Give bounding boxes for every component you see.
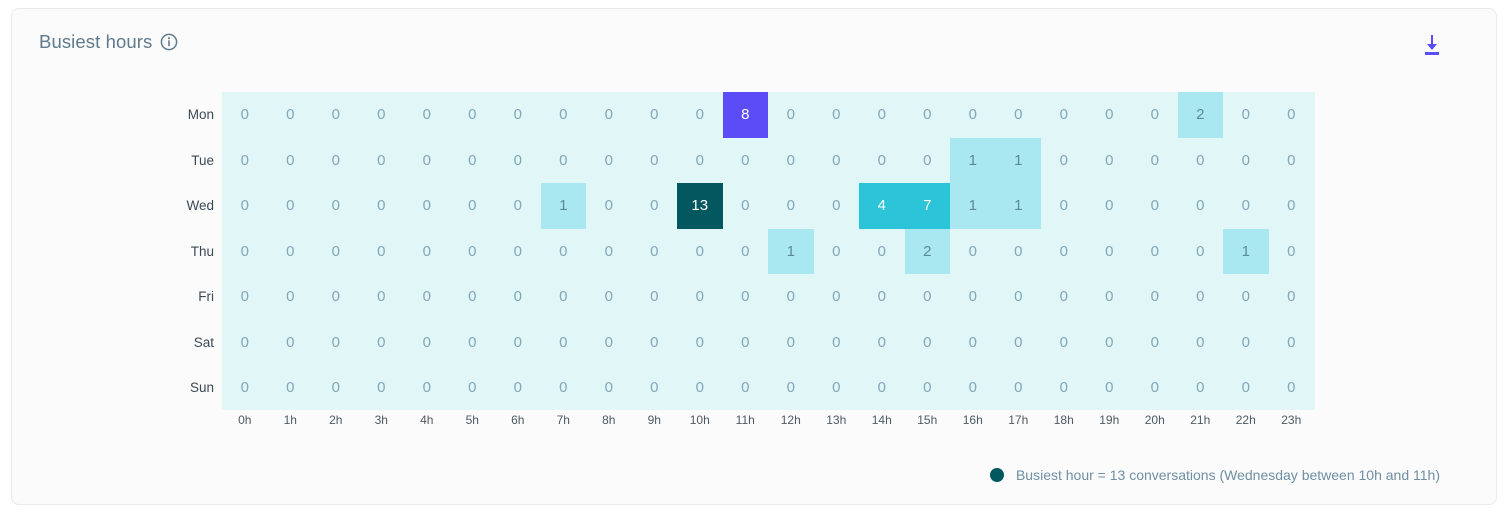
heatmap-cell[interactable]: 0 (677, 138, 723, 184)
heatmap-cell[interactable]: 0 (1269, 320, 1315, 366)
heatmap-cell[interactable]: 0 (1132, 274, 1178, 320)
heatmap-cell[interactable]: 0 (996, 320, 1042, 366)
heatmap-cell[interactable]: 0 (1178, 274, 1224, 320)
heatmap-cell[interactable]: 0 (404, 320, 450, 366)
heatmap-cell[interactable]: 0 (814, 138, 860, 184)
heatmap-cell[interactable]: 0 (1178, 183, 1224, 229)
heatmap-cell[interactable]: 0 (996, 92, 1042, 138)
legend-label: Busiest hour = 13 conversations (Wednesd… (1016, 467, 1440, 483)
heatmap-cell[interactable]: 0 (450, 274, 496, 320)
heatmap-cell[interactable]: 0 (268, 365, 314, 411)
heatmap-cell[interactable]: 0 (768, 274, 814, 320)
heatmap-cell[interactable]: 0 (541, 320, 587, 366)
heatmap-cell[interactable]: 0 (768, 183, 814, 229)
heatmap-cell[interactable]: 0 (950, 320, 996, 366)
x-axis-tick: 5h (450, 413, 496, 427)
info-circle-icon[interactable] (160, 33, 178, 51)
x-axis-tick: 17h (996, 413, 1042, 427)
download-icon[interactable] (1420, 33, 1444, 59)
x-axis-tick: 15h (905, 413, 951, 427)
heatmap-cell[interactable]: 0 (1269, 92, 1315, 138)
heatmap-cell[interactable]: 0 (723, 365, 769, 411)
heatmap-cell[interactable]: 0 (677, 92, 723, 138)
row-label-sat: Sat (174, 320, 214, 366)
row-label-fri: Fri (174, 274, 214, 320)
heatmap-cell[interactable]: 0 (541, 229, 587, 275)
heatmap-cell[interactable]: 0 (450, 183, 496, 229)
heatmap-cell[interactable]: 0 (768, 365, 814, 411)
heatmap-cell[interactable]: 0 (859, 320, 905, 366)
heatmap-cell[interactable]: 0 (1132, 138, 1178, 184)
heatmap-cell[interactable]: 0 (268, 229, 314, 275)
heatmap-cell[interactable]: 0 (768, 138, 814, 184)
row-label-sun: Sun (174, 365, 214, 411)
x-axis-tick: 6h (495, 413, 541, 427)
x-axis-tick: 16h (950, 413, 996, 427)
heatmap-cell[interactable]: 0 (586, 274, 632, 320)
heatmap-cell[interactable]: 0 (905, 138, 951, 184)
heatmap-cell[interactable]: 0 (768, 320, 814, 366)
heatmap-cell[interactable]: 0 (1132, 229, 1178, 275)
heatmap-cell[interactable]: 0 (222, 138, 268, 184)
heatmap-cell[interactable]: 0 (1041, 229, 1087, 275)
x-axis-tick: 9h (632, 413, 678, 427)
heatmap-cell[interactable]: 0 (859, 274, 905, 320)
heatmap-cell[interactable]: 0 (859, 138, 905, 184)
heatmap-cell[interactable]: 1 (541, 183, 587, 229)
x-axis-tick: 10h (677, 413, 723, 427)
heatmap-cell[interactable]: 0 (313, 92, 359, 138)
heatmap-x-axis: 0h1h2h3h4h5h6h7h8h9h10h11h12h13h14h15h16… (222, 413, 1315, 433)
heatmap-cell[interactable]: 0 (677, 365, 723, 411)
heatmap-cell[interactable]: 0 (222, 229, 268, 275)
heatmap-cell[interactable]: 0 (313, 274, 359, 320)
heatmap-cell[interactable]: 0 (1223, 365, 1269, 411)
heatmap-cell[interactable]: 0 (495, 365, 541, 411)
heatmap-cell[interactable]: 0 (677, 274, 723, 320)
heatmap-cell[interactable]: 0 (313, 229, 359, 275)
heatmap-cell[interactable]: 0 (632, 365, 678, 411)
heatmap-cell[interactable]: 0 (723, 274, 769, 320)
heatmap-cell[interactable]: 0 (1269, 229, 1315, 275)
heatmap-cell[interactable]: 0 (541, 92, 587, 138)
legend-color-dot (990, 468, 1004, 482)
heatmap-row: Thu000000000000100200000010 (222, 229, 1315, 275)
heatmap-cell[interactable]: 0 (450, 138, 496, 184)
heatmap-legend: Busiest hour = 13 conversations (Wednesd… (990, 467, 1440, 483)
heatmap-cell[interactable]: 0 (268, 138, 314, 184)
x-axis-tick: 3h (359, 413, 405, 427)
row-label-mon: Mon (174, 92, 214, 138)
heatmap-cell[interactable]: 0 (814, 183, 860, 229)
heatmap-cell[interactable]: 0 (450, 92, 496, 138)
heatmap-cell[interactable]: 0 (1087, 183, 1133, 229)
heatmap-cell[interactable]: 0 (1269, 274, 1315, 320)
heatmap-cell[interactable]: 0 (1132, 92, 1178, 138)
heatmap-cell[interactable]: 0 (450, 365, 496, 411)
heatmap-cell[interactable]: 0 (1223, 138, 1269, 184)
heatmap-cell[interactable]: 0 (268, 183, 314, 229)
heatmap-cell[interactable]: 0 (1223, 274, 1269, 320)
page-title: Busiest hours (39, 31, 152, 53)
heatmap-cell[interactable]: 0 (814, 92, 860, 138)
heatmap-cell[interactable]: 0 (1132, 320, 1178, 366)
heatmap-cell[interactable]: 4 (859, 183, 905, 229)
heatmap-cell[interactable]: 0 (313, 138, 359, 184)
heatmap-cell[interactable]: 0 (950, 365, 996, 411)
heatmap-cell[interactable]: 0 (814, 320, 860, 366)
heatmap-cell[interactable]: 0 (632, 320, 678, 366)
heatmap-cell[interactable]: 0 (359, 365, 405, 411)
heatmap-cell[interactable]: 0 (1087, 274, 1133, 320)
heatmap-cell[interactable]: 0 (359, 229, 405, 275)
x-axis-tick: 4h (404, 413, 450, 427)
heatmap-cell[interactable]: 0 (541, 138, 587, 184)
heatmap-cell[interactable]: 7 (905, 183, 951, 229)
heatmap-grid: Mon000000000008000000000200Tue0000000000… (222, 92, 1326, 410)
row-label-tue: Tue (174, 138, 214, 184)
heatmap-cell[interactable]: 0 (495, 138, 541, 184)
heatmap-cell[interactable]: 0 (313, 183, 359, 229)
heatmap-cell[interactable]: 0 (1223, 183, 1269, 229)
heatmap-cell[interactable]: 0 (495, 183, 541, 229)
x-axis-tick: 14h (859, 413, 905, 427)
heatmap-cell[interactable]: 0 (814, 274, 860, 320)
heatmap-cell[interactable]: 0 (541, 365, 587, 411)
heatmap-cell[interactable]: 0 (222, 92, 268, 138)
heatmap-cell[interactable]: 0 (359, 320, 405, 366)
heatmap-cell[interactable]: 0 (1269, 138, 1315, 184)
heatmap-row: Fri000000000000000000000000 (222, 274, 1315, 320)
heatmap-cell[interactable]: 0 (404, 229, 450, 275)
heatmap-cell[interactable]: 0 (859, 229, 905, 275)
card-title-wrap: Busiest hours (39, 31, 178, 53)
x-axis-tick: 22h (1223, 413, 1269, 427)
x-axis-tick: 8h (586, 413, 632, 427)
x-axis-tick: 23h (1269, 413, 1315, 427)
heatmap-cell[interactable]: 0 (222, 183, 268, 229)
heatmap-cell[interactable]: 0 (359, 138, 405, 184)
heatmap-cell[interactable]: 0 (1041, 138, 1087, 184)
heatmap-cell[interactable]: 0 (222, 365, 268, 411)
heatmap-cell[interactable]: 0 (1132, 365, 1178, 411)
heatmap-cell[interactable]: 0 (1178, 138, 1224, 184)
heatmap-cell[interactable]: 0 (1087, 229, 1133, 275)
heatmap-cell[interactable]: 0 (950, 274, 996, 320)
heatmap-cell[interactable]: 0 (1041, 365, 1087, 411)
heatmap-cell[interactable]: 0 (905, 320, 951, 366)
heatmap-cell[interactable]: 0 (1223, 92, 1269, 138)
heatmap-cell[interactable]: 0 (1041, 183, 1087, 229)
row-label-thu: Thu (174, 229, 214, 275)
heatmap-cell[interactable]: 0 (586, 92, 632, 138)
heatmap-cell[interactable]: 0 (1087, 320, 1133, 366)
heatmap-cell[interactable]: 0 (632, 183, 678, 229)
heatmap-cell[interactable]: 0 (814, 229, 860, 275)
heatmap-cell[interactable]: 0 (859, 365, 905, 411)
heatmap-cell[interactable]: 13 (677, 183, 723, 229)
heatmap-cell[interactable]: 0 (222, 320, 268, 366)
heatmap-cell[interactable]: 1 (950, 138, 996, 184)
heatmap-cell[interactable]: 0 (1041, 274, 1087, 320)
heatmap-cell[interactable]: 0 (859, 92, 905, 138)
heatmap-cell[interactable]: 0 (996, 274, 1042, 320)
heatmap-cell[interactable]: 0 (222, 274, 268, 320)
heatmap-cell[interactable]: 0 (404, 183, 450, 229)
heatmap-cell[interactable]: 0 (768, 92, 814, 138)
heatmap-cell[interactable]: 0 (723, 320, 769, 366)
heatmap-cell[interactable]: 0 (1178, 365, 1224, 411)
heatmap-cell[interactable]: 8 (723, 92, 769, 138)
heatmap-row: Wed0000000100130004711000000 (222, 183, 1315, 229)
heatmap-cell[interactable]: 0 (814, 365, 860, 411)
heatmap-cell[interactable]: 0 (1132, 183, 1178, 229)
heatmap-cell[interactable]: 2 (905, 229, 951, 275)
heatmap-cell[interactable]: 0 (632, 92, 678, 138)
heatmap-cell[interactable]: 0 (495, 320, 541, 366)
heatmap-cell[interactable]: 0 (404, 92, 450, 138)
heatmap-cell[interactable]: 0 (1269, 365, 1315, 411)
x-axis-tick: 18h (1041, 413, 1087, 427)
heatmap-cell[interactable]: 0 (723, 183, 769, 229)
heatmap-cell[interactable]: 1 (996, 183, 1042, 229)
row-label-wed: Wed (174, 183, 214, 229)
x-axis-tick: 7h (541, 413, 587, 427)
heatmap-cell[interactable]: 0 (268, 92, 314, 138)
heatmap-cell[interactable]: 0 (404, 138, 450, 184)
x-axis-tick: 1h (268, 413, 314, 427)
heatmap-cell[interactable]: 0 (495, 92, 541, 138)
heatmap-cell[interactable]: 0 (1178, 229, 1224, 275)
heatmap-cell[interactable]: 0 (1087, 92, 1133, 138)
heatmap-cell[interactable]: 0 (586, 183, 632, 229)
heatmap-cell[interactable]: 0 (541, 274, 587, 320)
card-header: Busiest hours (12, 9, 1496, 81)
x-axis-tick: 19h (1087, 413, 1133, 427)
heatmap-cell[interactable]: 0 (632, 274, 678, 320)
heatmap-cell[interactable]: 0 (313, 320, 359, 366)
heatmap-row: Sun000000000000000000000000 (222, 365, 1315, 411)
heatmap-cell[interactable]: 0 (905, 365, 951, 411)
heatmap-cell[interactable]: 0 (359, 92, 405, 138)
heatmap-cell[interactable]: 0 (1087, 138, 1133, 184)
heatmap-cell[interactable]: 1 (1223, 229, 1269, 275)
busiest-hours-card: Busiest hours Mon0000000000080 (11, 8, 1497, 505)
x-axis-tick: 13h (814, 413, 860, 427)
x-axis-tick: 2h (313, 413, 359, 427)
heatmap-cell[interactable]: 0 (996, 365, 1042, 411)
x-axis-tick: 21h (1178, 413, 1224, 427)
heatmap-row: Tue000000000000000011000000 (222, 138, 1315, 184)
heatmap-cell[interactable]: 0 (1041, 92, 1087, 138)
heatmap-cell[interactable]: 0 (1087, 365, 1133, 411)
heatmap-cell[interactable]: 0 (495, 274, 541, 320)
heatmap-cell[interactable]: 0 (905, 92, 951, 138)
heatmap-cell[interactable]: 0 (586, 229, 632, 275)
heatmap-cell[interactable]: 0 (404, 274, 450, 320)
heatmap-cell[interactable]: 0 (404, 365, 450, 411)
heatmap-cell[interactable]: 0 (905, 274, 951, 320)
heatmap-cell[interactable]: 0 (268, 320, 314, 366)
heatmap-cell[interactable]: 0 (1223, 320, 1269, 366)
heatmap-cell[interactable]: 0 (359, 274, 405, 320)
heatmap-cell[interactable]: 0 (495, 229, 541, 275)
heatmap-cell[interactable]: 0 (359, 183, 405, 229)
x-axis-tick: 20h (1132, 413, 1178, 427)
heatmap-cell[interactable]: 0 (1041, 320, 1087, 366)
heatmap-cell[interactable]: 0 (723, 229, 769, 275)
heatmap-cell[interactable]: 2 (1178, 92, 1224, 138)
heatmap-cell[interactable]: 0 (950, 92, 996, 138)
heatmap-cell[interactable]: 1 (950, 183, 996, 229)
heatmap-cell[interactable]: 0 (1178, 320, 1224, 366)
heatmap-cell[interactable]: 0 (586, 365, 632, 411)
heatmap-cell[interactable]: 0 (632, 138, 678, 184)
heatmap-cell[interactable]: 0 (950, 229, 996, 275)
heatmap-cell[interactable]: 1 (768, 229, 814, 275)
heatmap-cell[interactable]: 0 (586, 320, 632, 366)
heatmap-row: Mon000000000008000000000200 (222, 92, 1315, 138)
heatmap-cell[interactable]: 0 (450, 229, 496, 275)
heatmap-cell[interactable]: 0 (313, 365, 359, 411)
x-axis-tick: 0h (222, 413, 268, 427)
x-axis-tick: 12h (768, 413, 814, 427)
heatmap-cell[interactable]: 0 (723, 138, 769, 184)
heatmap-cell[interactable]: 0 (677, 229, 723, 275)
heatmap-cell[interactable]: 0 (1269, 183, 1315, 229)
heatmap-row: Sat000000000000000000000000 (222, 320, 1315, 366)
heatmap-cell[interactable]: 1 (996, 138, 1042, 184)
heatmap-cell[interactable]: 0 (586, 138, 632, 184)
heatmap-cell[interactable]: 0 (996, 229, 1042, 275)
heatmap-cell[interactable]: 0 (450, 320, 496, 366)
heatmap-cell[interactable]: 0 (268, 274, 314, 320)
heatmap-cell[interactable]: 0 (632, 229, 678, 275)
x-axis-tick: 11h (723, 413, 769, 427)
page-root: Busiest hours Mon0000000000080 (0, 0, 1508, 514)
heatmap-cell[interactable]: 0 (677, 320, 723, 366)
